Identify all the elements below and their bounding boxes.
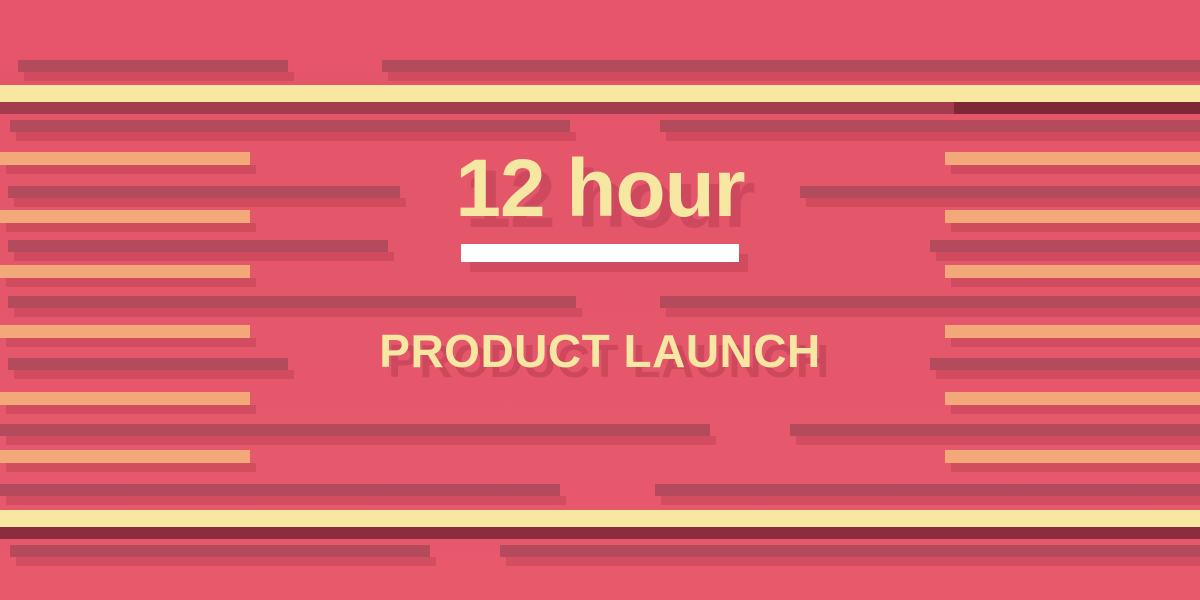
headline-text: 12 hour (455, 148, 744, 230)
promo-banner: 12 hour PRODUCT LAUNCH (0, 0, 1200, 600)
headline-underline-rule (461, 244, 739, 262)
banner-content: 12 hour PRODUCT LAUNCH (0, 0, 1200, 600)
subheadline-text: PRODUCT LAUNCH (379, 328, 820, 374)
